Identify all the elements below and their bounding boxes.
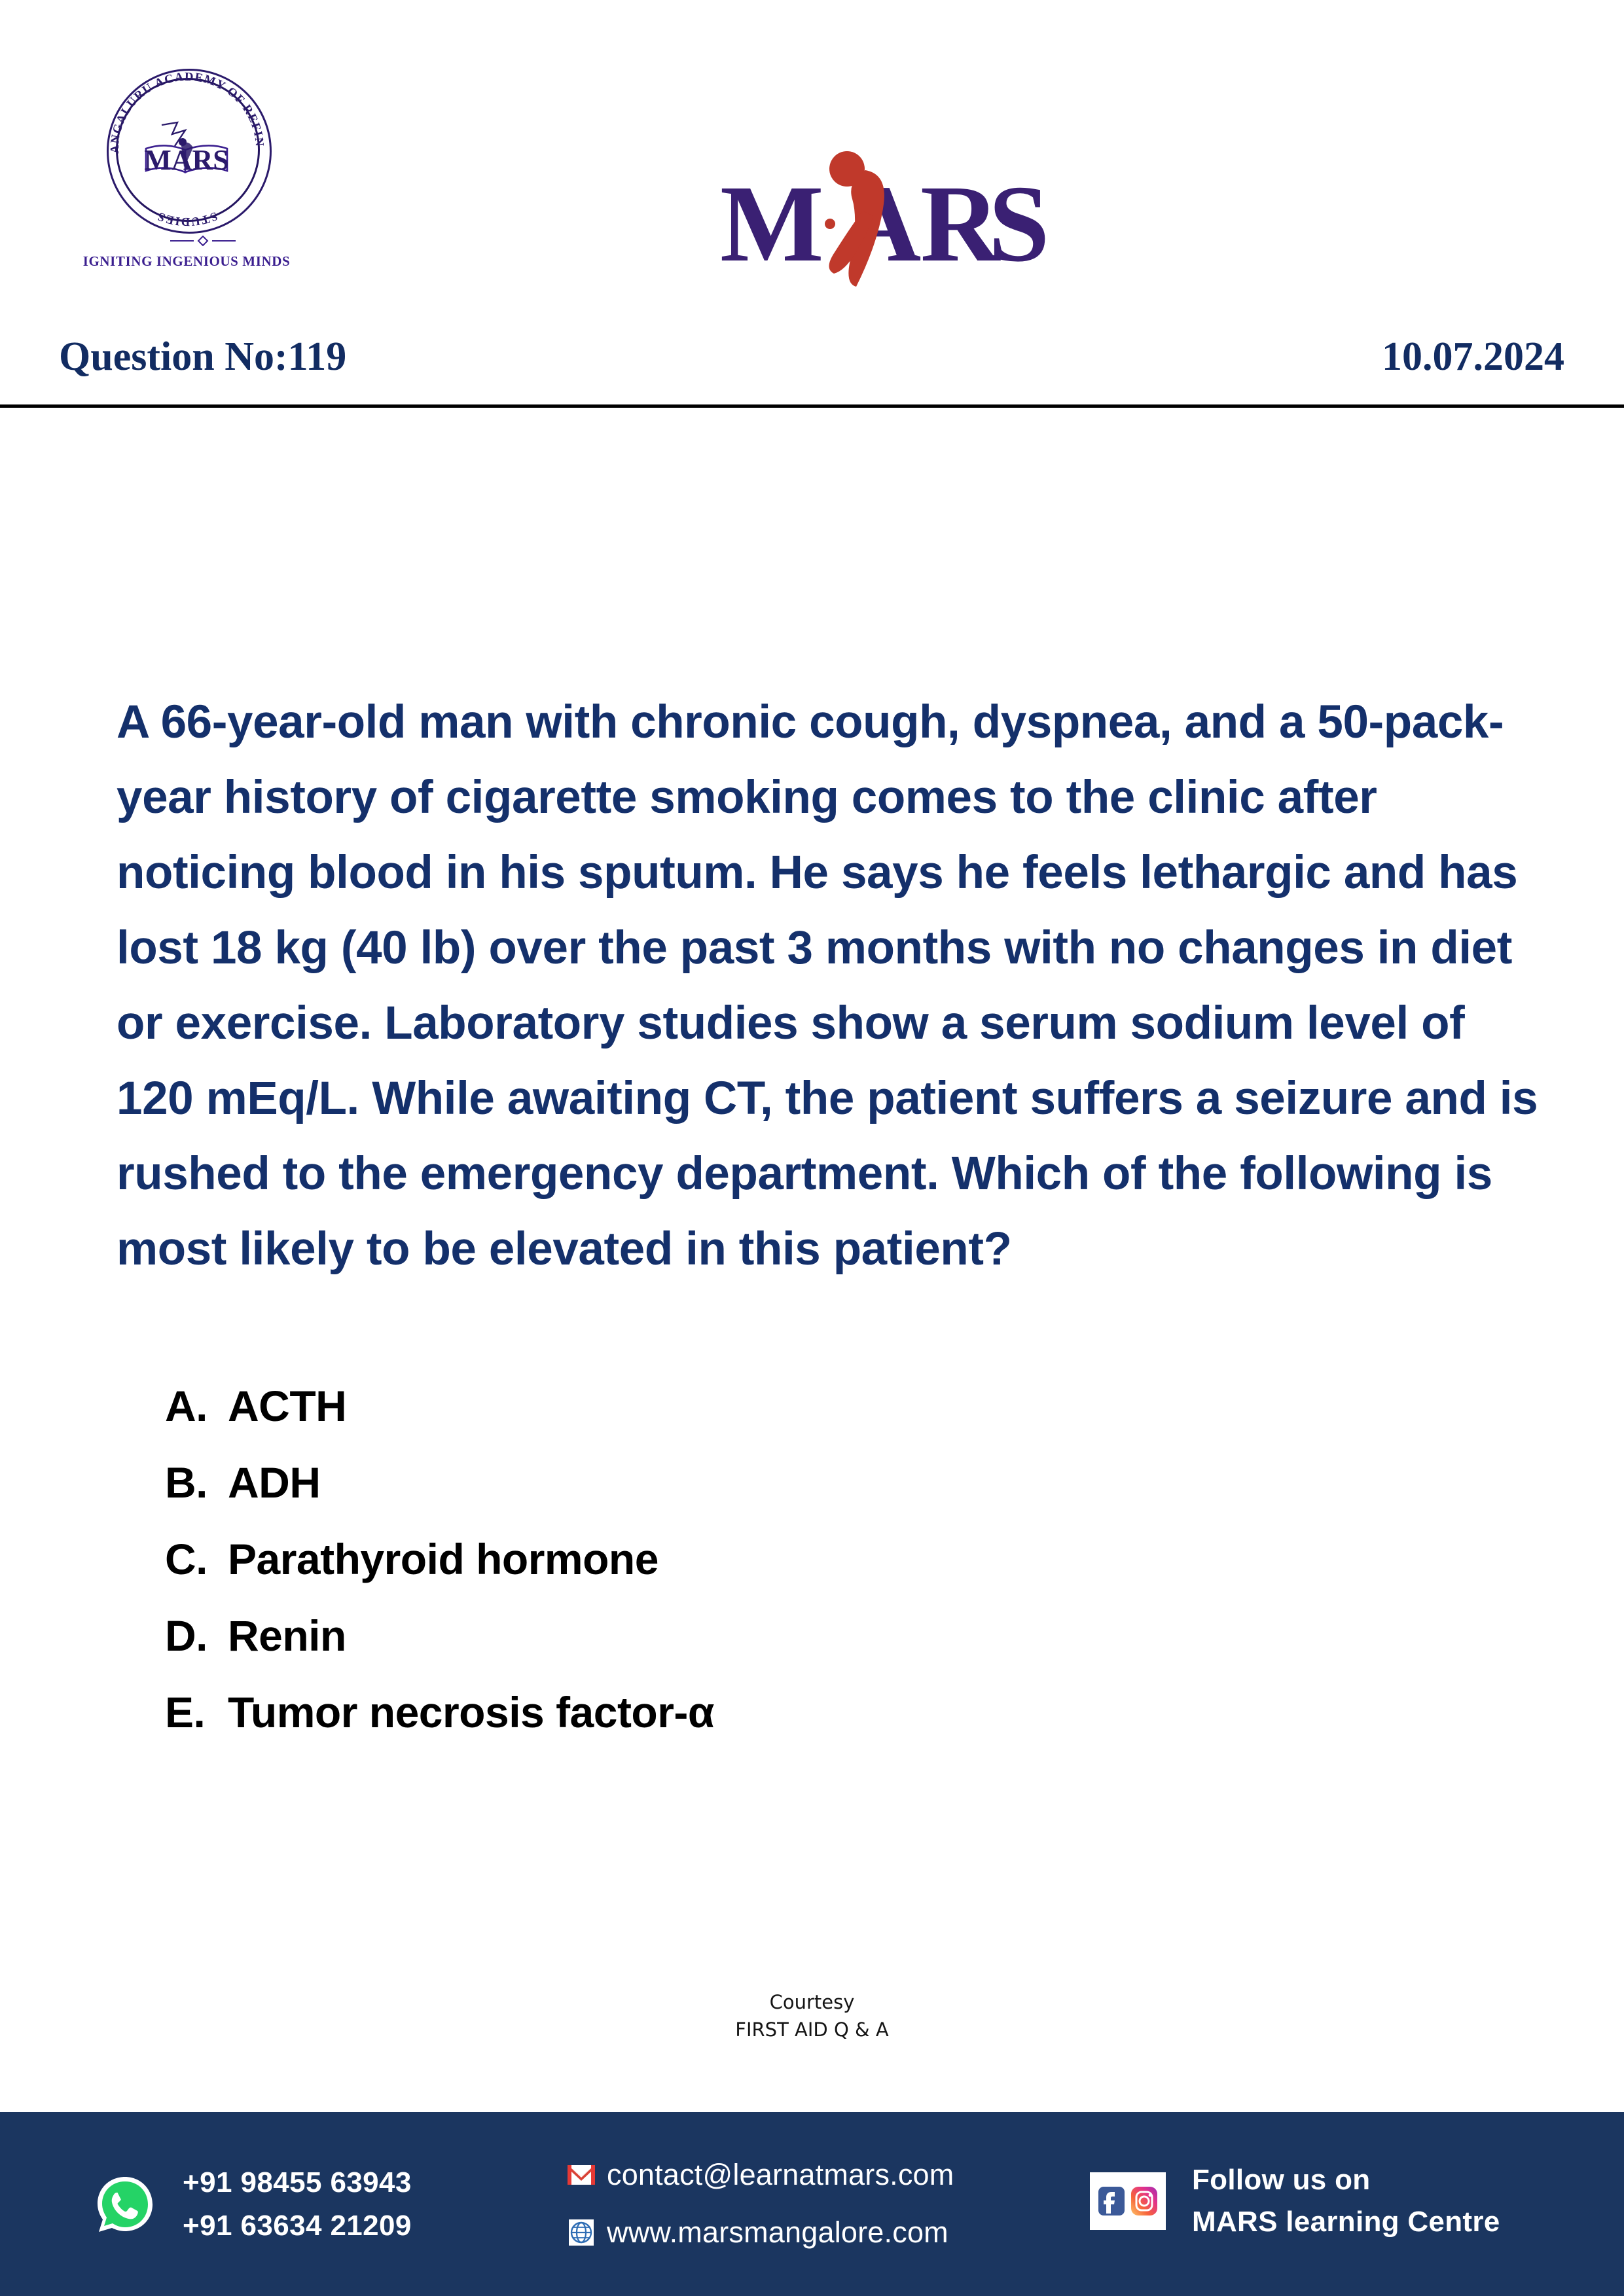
option-letter-d: D. <box>165 1611 228 1660</box>
option-letter-b: B. <box>165 1458 228 1507</box>
page-header: MANGALURU ACADEMY OF REFINED STUDIES MAR… <box>0 0 1624 406</box>
footer-email-row[interactable]: contact@learnatmars.com <box>566 2146 954 2204</box>
answer-options-list: A. ACTH B. ADH C. Parathyroid hormone D.… <box>165 1381 1409 1764</box>
option-letter-c: C. <box>165 1534 228 1584</box>
social-handle-label: MARS learning Centre <box>1192 2201 1500 2243</box>
seal-tagline: IGNITING INGENIOUS MINDS <box>75 253 298 270</box>
svg-text:M: M <box>720 163 824 285</box>
courtesy-source: FIRST AID Q & A <box>0 2016 1624 2043</box>
footer-website-text: www.marsmangalore.com <box>607 2215 948 2250</box>
gmail-icon <box>566 2160 596 2190</box>
seal-divider-icon <box>170 236 236 246</box>
option-label-c: Parathyroid hormone <box>228 1534 659 1584</box>
header-meta-row: Question No:119 10.07.2024 <box>59 334 1564 393</box>
mars-wordmark-logo: M A R S <box>713 137 1060 288</box>
question-block: A 66-year-old man with chronic cough, dy… <box>117 685 1543 1287</box>
option-row-e[interactable]: E. Tumor necrosis factor-α <box>165 1687 1409 1764</box>
header-divider-rule <box>0 404 1624 408</box>
courtesy-block: Courtesy FIRST AID Q & A <box>0 1988 1624 2043</box>
footer-phone-group: +91 98455 63943 +91 63634 21209 <box>95 2161 412 2248</box>
footer-website-row[interactable]: www.marsmangalore.com <box>566 2204 954 2261</box>
option-row-c[interactable]: C. Parathyroid hormone <box>165 1534 1409 1611</box>
instagram-icon[interactable] <box>1130 2184 1159 2218</box>
svg-text:STUDIES: STUDIES <box>155 209 219 228</box>
option-label-b: ADH <box>228 1458 321 1507</box>
footer-email-text: contact@learnatmars.com <box>607 2158 954 2192</box>
option-label-a: ACTH <box>228 1381 346 1431</box>
option-letter-a: A. <box>165 1381 228 1431</box>
question-number: Question No:119 <box>59 334 346 380</box>
option-label-d: Renin <box>228 1611 346 1660</box>
option-row-d[interactable]: D. Renin <box>165 1611 1409 1687</box>
courtesy-label: Courtesy <box>0 1988 1624 2016</box>
footer-social-group: Follow us on MARS learning Centre <box>1090 2159 1500 2243</box>
seal-book-lamp-icon: MARS <box>134 120 239 182</box>
phone-number-2: +91 63634 21209 <box>183 2204 412 2248</box>
option-row-b[interactable]: B. ADH <box>165 1458 1409 1534</box>
question-date: 10.07.2024 <box>1382 334 1564 380</box>
mars-seal-logo: MANGALURU ACADEMY OF REFINED STUDIES MAR… <box>75 62 298 278</box>
page-footer: +91 98455 63943 +91 63634 21209 <box>0 2112 1624 2296</box>
globe-icon <box>566 2217 596 2248</box>
phone-number-1: +91 98455 63943 <box>183 2161 412 2204</box>
facebook-icon[interactable] <box>1097 2184 1126 2218</box>
footer-contact-group: contact@learnatmars.com www.marsma <box>566 2146 954 2261</box>
phone-number-lines: +91 98455 63943 +91 63634 21209 <box>183 2161 412 2248</box>
social-icons-tile[interactable] <box>1090 2172 1166 2230</box>
whatsapp-icon[interactable] <box>95 2174 155 2234</box>
follow-us-label: Follow us on <box>1192 2159 1500 2201</box>
option-row-a[interactable]: A. ACTH <box>165 1381 1409 1458</box>
question-stem-text: A 66-year-old man with chronic cough, dy… <box>117 685 1543 1287</box>
option-label-e: Tumor necrosis factor-α <box>228 1687 714 1737</box>
svg-text:S: S <box>988 163 1049 285</box>
option-letter-e: E. <box>165 1687 228 1737</box>
